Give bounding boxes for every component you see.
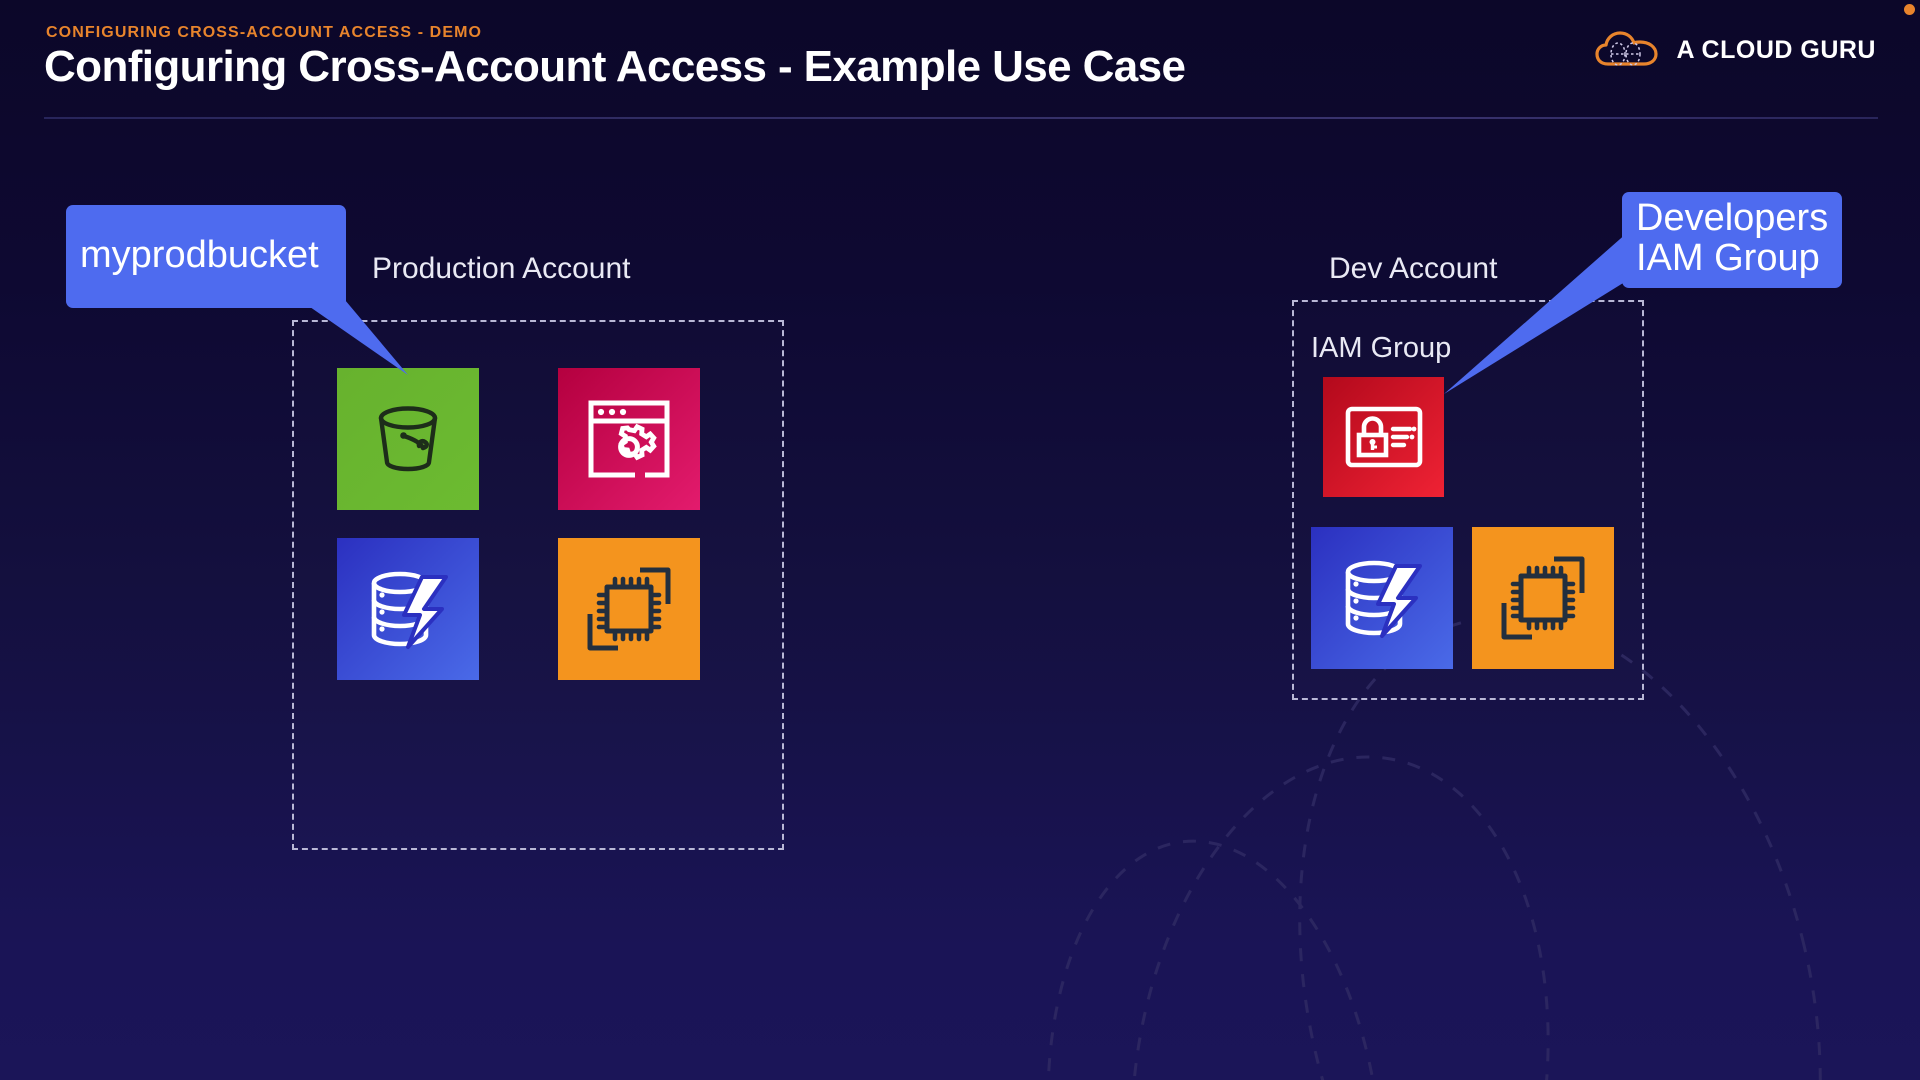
brand-logo: A CLOUD GURU bbox=[1594, 26, 1876, 74]
callout-line: myprodbucket bbox=[80, 235, 332, 275]
slide-canvas: CONFIGURING CROSS-ACCOUNT ACCESS - DEMO … bbox=[0, 0, 1920, 1080]
ec2-icon bbox=[582, 562, 676, 656]
dynamodb-icon bbox=[1336, 552, 1428, 644]
callout-line-1: Developers bbox=[1636, 198, 1828, 238]
production-account-label: Production Account bbox=[372, 252, 631, 286]
header-divider bbox=[44, 117, 1878, 119]
service-tile-management-console[interactable] bbox=[558, 368, 700, 510]
management-console-icon bbox=[585, 397, 673, 481]
service-tile-ec2-dev[interactable] bbox=[1472, 527, 1614, 669]
dev-account-label: Dev Account bbox=[1329, 252, 1497, 286]
cloud-icon bbox=[1594, 28, 1660, 72]
slide-kicker: CONFIGURING CROSS-ACCOUNT ACCESS - DEMO bbox=[46, 24, 482, 42]
service-tile-s3[interactable] bbox=[337, 368, 479, 510]
iam-group-label: IAM Group bbox=[1311, 332, 1451, 365]
slide-header: CONFIGURING CROSS-ACCOUNT ACCESS - DEMO … bbox=[0, 0, 1920, 122]
s3-bucket-icon bbox=[365, 396, 451, 482]
corner-accent-dot bbox=[1904, 4, 1915, 15]
service-tile-dynamodb-dev[interactable] bbox=[1311, 527, 1453, 669]
dynamodb-icon bbox=[362, 563, 454, 655]
service-tile-iam[interactable] bbox=[1323, 377, 1444, 497]
page-title: Configuring Cross-Account Access - Examp… bbox=[44, 42, 1185, 92]
service-tile-dynamodb[interactable] bbox=[337, 538, 479, 680]
iam-icon bbox=[1344, 404, 1424, 470]
ec2-icon bbox=[1496, 551, 1590, 645]
callout-line-2: IAM Group bbox=[1636, 238, 1828, 278]
service-tile-ec2[interactable] bbox=[558, 538, 700, 680]
callout-myprodbucket[interactable]: myprodbucket bbox=[66, 205, 346, 308]
brand-name: A CLOUD GURU bbox=[1676, 36, 1876, 65]
callout-developers-iam-group[interactable]: Developers IAM Group bbox=[1622, 192, 1842, 288]
